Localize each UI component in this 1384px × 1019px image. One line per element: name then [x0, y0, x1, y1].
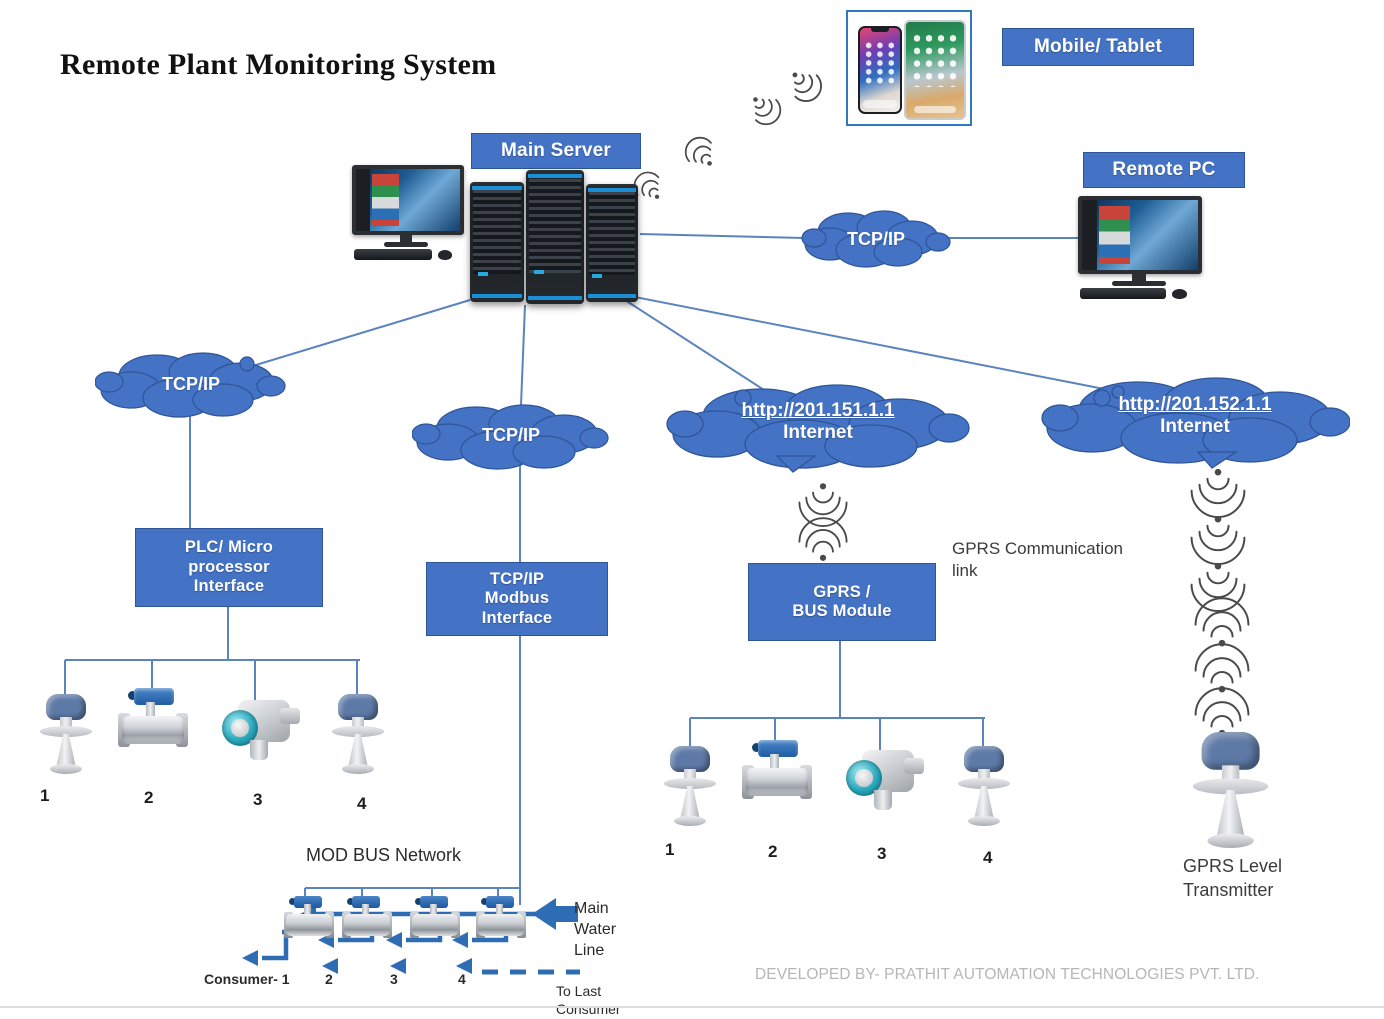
- box-gprs-bus-module[interactable]: GPRS / BUS Module: [748, 563, 936, 641]
- server-rack-icon: [526, 170, 584, 304]
- device-number-gprs-1: 1: [665, 840, 674, 860]
- radar-level-transmitter-icon: [956, 746, 1014, 828]
- label-gprs-level-transmitter: GPRS Level Transmitter: [1183, 855, 1383, 903]
- pressure-transmitter-icon: [842, 744, 928, 814]
- tablet-icon: [904, 20, 966, 120]
- cloud-label-line2: Internet: [1160, 416, 1230, 438]
- flow-meter-icon: [284, 896, 336, 944]
- gprs-label-line2: BUS Module: [792, 602, 891, 621]
- horn-antenna: [56, 734, 76, 768]
- flow-meter-icon: [742, 738, 816, 808]
- pressure-terminal: [280, 708, 300, 724]
- device-number-gprs-3: 3: [877, 844, 886, 864]
- phone-notch: [871, 28, 889, 32]
- rack-top-led-bar: [528, 174, 581, 178]
- screen-tiles: [1099, 206, 1129, 265]
- cloud-label-line2: Internet: [783, 422, 853, 444]
- rack-led: [592, 274, 602, 278]
- flow-meter-icon: [118, 686, 192, 756]
- cloud-url-line[interactable]: http://201.152.1.1: [1118, 394, 1271, 416]
- rack-top-led-bar: [472, 186, 522, 190]
- cloud-tcpip-remote[interactable]: TCP/IP: [800, 206, 952, 272]
- label-mod-bus-network: MOD BUS Network: [306, 844, 461, 868]
- screen-sidebar: [1082, 200, 1097, 270]
- horn-antenna: [974, 786, 994, 820]
- footer-credit: DEVELOPED BY- PRATHIT AUTOMATION TECHNOL…: [755, 966, 1259, 984]
- plc-label-line2: processor: [188, 558, 270, 577]
- label-main-water-line: Main Water Line: [574, 898, 664, 961]
- gprs-link-line1: GPRS Communication: [952, 538, 1192, 560]
- tablet-app-grid: [911, 32, 960, 88]
- horn-lip: [50, 764, 82, 774]
- rack-bottom-led-bar: [588, 294, 636, 298]
- rack-slots: [589, 192, 635, 275]
- radar-level-transmitter-icon: [662, 746, 720, 828]
- label-main-server[interactable]: Main Server: [471, 133, 641, 169]
- flow-meter-icon: [410, 896, 462, 944]
- label-to-last-consumer: To Last Consumer: [556, 982, 646, 1019]
- box-plc-interface[interactable]: PLC/ Micro processor Interface: [135, 528, 323, 607]
- modbus-label-line2: Modbus: [485, 589, 549, 608]
- device-number-gprs-4: 4: [983, 848, 992, 868]
- page-title: Remote Plant Monitoring System: [60, 48, 496, 82]
- monitor-base: [384, 242, 428, 247]
- device-number-plc-1: 1: [40, 786, 49, 806]
- remote-pc-monitor-icon: [1078, 196, 1198, 300]
- server-console-monitor-icon: [352, 165, 462, 265]
- flow-meter-body: [122, 716, 184, 744]
- cloud-label-line1: TCP/IP: [847, 229, 905, 250]
- screen-sidebar: [356, 169, 370, 231]
- pressure-process-connection: [874, 790, 892, 810]
- water-line-1: Main: [574, 898, 664, 919]
- device-number-plc-4: 4: [357, 794, 366, 814]
- main-water-inbound-arrow: [532, 898, 578, 930]
- radar-level-transmitter-icon: [330, 694, 388, 776]
- cloud-tcpip-plc[interactable]: TCP/IP: [95, 348, 287, 420]
- server-rack-icon: [470, 182, 524, 302]
- label-remote-pc[interactable]: Remote PC: [1083, 152, 1245, 188]
- flow-meter-icon: [342, 896, 394, 944]
- consumer-label-4: 4: [458, 970, 466, 988]
- consumer-label-1: Consumer- 1: [204, 970, 290, 988]
- transmitter-head: [1202, 732, 1260, 770]
- device-number-gprs-2: 2: [768, 842, 777, 862]
- keyboard-icon: [354, 249, 432, 260]
- gprs-level-line2: Transmitter: [1183, 879, 1383, 903]
- rack-slots: [473, 190, 521, 274]
- rack-bottom-led-bar: [528, 296, 581, 300]
- cloud-url-line[interactable]: http://201.151.1.1: [741, 400, 894, 422]
- consumer-label-2: 2: [325, 970, 333, 988]
- pressure-terminal: [904, 758, 924, 774]
- rack-bottom-led-bar: [472, 294, 522, 298]
- horn-lip: [342, 764, 374, 774]
- phone-app-grid: [863, 41, 897, 85]
- plc-label-line3: Interface: [194, 577, 265, 596]
- flow-meter-body: [478, 914, 524, 936]
- flow-meter-body: [286, 914, 332, 936]
- horn-lip: [968, 816, 1000, 826]
- cloud-label-line1: TCP/IP: [162, 374, 220, 395]
- pressure-transmitter-icon: [218, 694, 304, 764]
- water-line-3: Line: [574, 940, 664, 961]
- pressure-process-connection: [250, 740, 268, 760]
- rack-top-led-bar: [588, 188, 636, 192]
- gprs-link-line2: link: [952, 560, 1192, 582]
- gprs-label-line1: GPRS /: [813, 583, 870, 602]
- annotation-gprs-communication-link: GPRS Communication link: [952, 538, 1192, 583]
- monitor-screen: [352, 165, 464, 235]
- consumer-label-3: 3: [390, 970, 398, 988]
- keyboard-icon: [1080, 288, 1166, 299]
- monitor-screen: [1078, 196, 1202, 274]
- modbus-label-line1: TCP/IP: [490, 570, 544, 589]
- mobile-tablet-group: [846, 10, 972, 126]
- horn-antenna: [680, 786, 700, 820]
- radar-level-transmitter-icon: [38, 694, 96, 776]
- rack-slots: [529, 179, 580, 273]
- tablet-dock: [914, 106, 956, 114]
- device-number-plc-2: 2: [144, 788, 153, 808]
- device-number-plc-3: 3: [253, 790, 262, 810]
- water-line-2: Water: [574, 919, 664, 940]
- horn-antenna: [348, 734, 368, 768]
- horn-antenna: [1216, 790, 1245, 839]
- cloud-label-line1: TCP/IP: [482, 425, 540, 446]
- phone-dock: [863, 100, 897, 108]
- rack-led: [534, 270, 544, 274]
- mouse-icon: [1172, 289, 1187, 299]
- flow-meter-body: [412, 914, 458, 936]
- modbus-label-line3: Interface: [482, 609, 553, 628]
- label-mobile-tablet[interactable]: Mobile/ Tablet: [1002, 28, 1194, 66]
- rack-led: [478, 272, 488, 276]
- plc-label-line1: PLC/ Micro: [185, 538, 273, 557]
- smartphone-icon: [858, 26, 902, 114]
- flow-meter-body: [746, 768, 808, 796]
- horn-lip: [1207, 834, 1253, 849]
- box-tcpip-modbus-interface[interactable]: TCP/IP Modbus Interface: [426, 562, 608, 636]
- monitor-base: [1112, 281, 1166, 286]
- to-last-consumer-line2: Consumer: [556, 1000, 646, 1018]
- gprs-level-line1: GPRS Level: [1183, 855, 1383, 879]
- cloud-internet-1[interactable]: http://201.151.1.1 Internet: [665, 382, 971, 474]
- horn-lip: [674, 816, 706, 826]
- screen-tiles: [372, 174, 399, 226]
- flow-meter-body: [344, 914, 390, 936]
- line-server-to-tcpip-remote: [640, 234, 805, 238]
- flow-meter-icon: [476, 896, 528, 944]
- cloud-internet-2[interactable]: http://201.152.1.1 Internet: [1040, 374, 1350, 470]
- server-rack-icon: [586, 184, 638, 302]
- diagram-canvas: Remote Plant Monitoring System Mobile/ T…: [0, 0, 1384, 1019]
- mouse-icon: [438, 250, 452, 260]
- footer-divider: [0, 1006, 1384, 1008]
- to-last-consumer-line1: To Last: [556, 982, 646, 1000]
- cloud-tcpip-modbus[interactable]: TCP/IP: [412, 398, 610, 472]
